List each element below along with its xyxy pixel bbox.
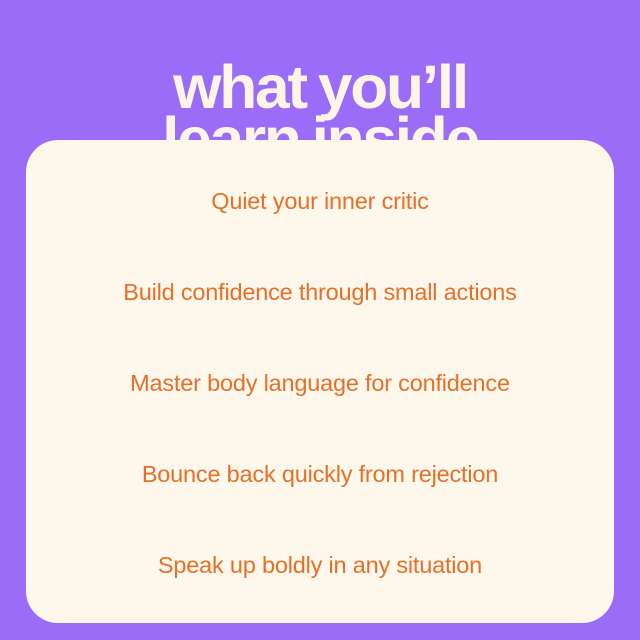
poster-canvas: what you’ll learn inside Quiet your inne… bbox=[0, 0, 640, 640]
list-item: Build confidence through small actions bbox=[26, 247, 614, 338]
list-item: Master body language for confidence bbox=[26, 338, 614, 429]
list-item: Bounce back quickly from rejection bbox=[26, 429, 614, 520]
learn-list: Quiet your inner critic Build confidence… bbox=[26, 140, 614, 611]
list-item: Speak up boldly in any situation bbox=[26, 520, 614, 611]
list-item: Quiet your inner critic bbox=[26, 156, 614, 247]
learn-list-card: Quiet your inner critic Build confidence… bbox=[26, 140, 614, 623]
